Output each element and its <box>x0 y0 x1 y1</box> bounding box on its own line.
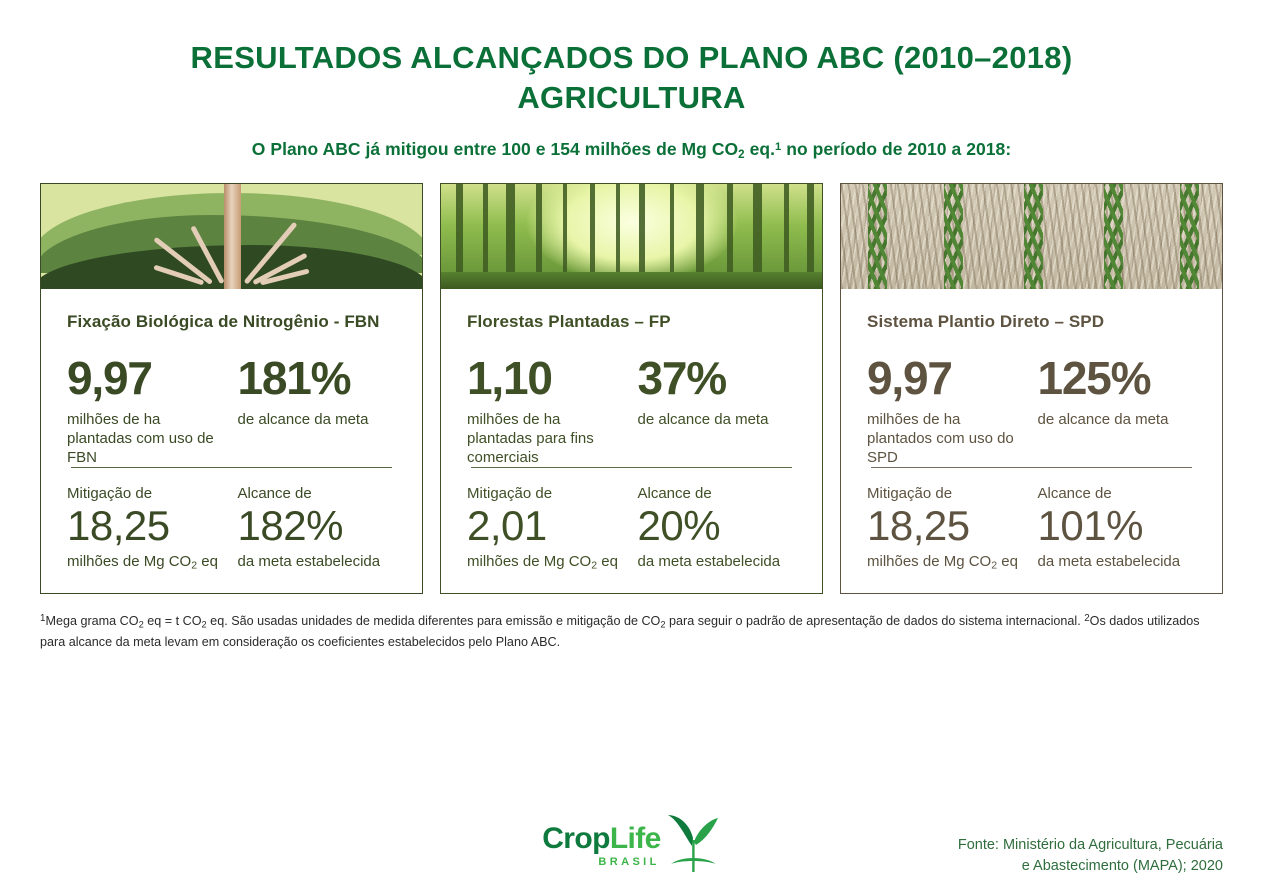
tree-trunk-icon <box>753 184 762 275</box>
card-spd-mitigation-stat: Mitigação de 18,25 milhões de Mg CO2 eq <box>867 485 1026 573</box>
source-line-2: e Abastecimento (MAPA); 2020 <box>958 856 1223 877</box>
tree-trunk-icon <box>670 184 674 275</box>
footnote-text-c: eq. São usadas unidades de medida difere… <box>207 614 661 628</box>
card-fp-reach-caption: de alcance da meta <box>638 410 797 429</box>
source-attribution: Fonte: Ministério da Agricultura, Pecuár… <box>958 835 1223 877</box>
crop-row-icon <box>1104 184 1123 289</box>
card-fbn-photo <box>41 184 422 289</box>
croplife-wordmark: CropLife <box>542 824 661 854</box>
card-fbn-mitigation-label: Mitigação de <box>67 485 226 503</box>
card-spd: Sistema Plantio Direto – SPD 9,97 milhõe… <box>840 183 1223 594</box>
footnote-text-a: Mega grama CO <box>45 614 138 628</box>
card-fbn-secondary-stats: Mitigação de 18,25 milhões de Mg CO2 eq … <box>67 485 396 573</box>
tree-trunk-icon <box>639 184 645 275</box>
crop-row-icon <box>868 184 887 289</box>
card-fp-secondary-stats: Mitigação de 2,01 milhões de Mg CO2 eq A… <box>467 485 796 573</box>
subtitle-text-1: O Plano ABC já mitigou entre 100 e 154 m… <box>252 139 738 159</box>
tree-trunk-icon <box>784 184 789 275</box>
card-fbn-reach-value: 181% <box>238 355 397 401</box>
tree-trunk-icon <box>616 184 620 275</box>
card-fp-photo <box>441 184 822 289</box>
card-fbn-goal-value: 182% <box>238 504 397 549</box>
forest-floor-icon <box>441 272 822 289</box>
card-spd-goal-label: Alcance de <box>1038 485 1197 503</box>
card-fp-area-stat: 1,10 milhões de ha plantadas para fins c… <box>467 355 626 468</box>
tree-trunk-icon <box>807 184 814 275</box>
tree-trunk-icon <box>563 184 567 275</box>
card-fp-area-value: 1,10 <box>467 355 626 401</box>
card-fbn-primary-stats: 9,97 milhões de ha plantadas com uso de … <box>67 355 396 468</box>
card-fp-area-caption: milhões de ha plantadas para fins comerc… <box>467 410 626 468</box>
tree-trunk-icon <box>727 184 733 275</box>
card-fbn-area-stat: 9,97 milhões de ha plantadas com uso de … <box>67 355 226 468</box>
source-line-1: Fonte: Ministério da Agricultura, Pecuár… <box>958 835 1223 856</box>
card-fbn-body: Fixação Biológica de Nitrogênio - FBN 9,… <box>41 289 422 593</box>
card-spd-reach-value: 125% <box>1038 355 1197 401</box>
tree-trunk-icon <box>456 184 463 275</box>
card-fbn-reach-stat: 181% de alcance da meta <box>238 355 397 468</box>
card-spd-mitigation-value: 18,25 <box>867 504 1026 549</box>
card-fbn-mitigation-caption: milhões de Mg CO2 eq <box>67 552 226 573</box>
card-fp-primary-stats: 1,10 milhões de ha plantadas para fins c… <box>467 355 796 468</box>
mitigation-caption-text-1: milhões de Mg CO <box>467 553 591 570</box>
card-fbn-goal-label: Alcance de <box>238 485 397 503</box>
crop-row-icon <box>1024 184 1043 289</box>
mitigation-caption-text-2: eq <box>597 553 618 570</box>
tree-trunk-icon <box>590 184 595 275</box>
crop-row-icon <box>944 184 963 289</box>
footnote-text-d: para seguir o padrão de apresentação de … <box>666 614 1085 628</box>
card-fbn-area-value: 9,97 <box>67 355 226 401</box>
card-fp-divider <box>471 467 792 468</box>
card-spd-mitigation-label: Mitigação de <box>867 485 1026 503</box>
mitigation-caption-text-1: milhões de Mg CO <box>867 553 991 570</box>
card-spd-area-value: 9,97 <box>867 355 1026 401</box>
title-line-2: AGRICULTURA <box>0 78 1263 118</box>
subtitle-text-2: eq. <box>745 139 775 159</box>
footnotes: 1Mega grama CO2 eq = t CO2 eq. São usada… <box>0 594 1263 653</box>
card-spd-photo <box>841 184 1222 289</box>
root-stem-icon <box>224 184 241 289</box>
card-fp-heading: Florestas Plantadas – FP <box>467 311 796 355</box>
card-fp-goal-caption: da meta estabelecida <box>638 552 797 571</box>
results-card-row: Fixação Biológica de Nitrogênio - FBN 9,… <box>0 183 1263 594</box>
card-spd-secondary-stats: Mitigação de 18,25 milhões de Mg CO2 eq … <box>867 485 1196 573</box>
card-spd-goal-value: 101% <box>1038 504 1197 549</box>
sprout-icon <box>665 812 721 879</box>
logo-brasil-label: BRASIL <box>598 857 659 868</box>
tree-trunk-icon <box>536 184 542 275</box>
card-fp-mitigation-value: 2,01 <box>467 504 626 549</box>
card-fp-goal-stat: Alcance de 20% da meta estabelecida <box>638 485 797 573</box>
card-fp: Florestas Plantadas – FP 1,10 milhões de… <box>440 183 823 594</box>
card-fbn-area-caption: milhões de ha plantadas com uso de FBN <box>67 410 226 468</box>
card-fp-reach-stat: 37% de alcance da meta <box>638 355 797 468</box>
mitigation-caption-text-2: eq <box>197 553 218 570</box>
card-fbn: Fixação Biológica de Nitrogênio - FBN 9,… <box>40 183 423 594</box>
card-fbn-mitigation-stat: Mitigação de 18,25 milhões de Mg CO2 eq <box>67 485 226 573</box>
card-spd-primary-stats: 9,97 milhões de ha plantados com uso do … <box>867 355 1196 468</box>
card-spd-area-caption: milhões de ha plantados com uso do SPD <box>867 410 1026 468</box>
card-fp-goal-label: Alcance de <box>638 485 797 503</box>
card-fbn-heading: Fixação Biológica de Nitrogênio - FBN <box>67 311 396 355</box>
subtitle-text-3: no período de 2010 a 2018: <box>781 139 1011 159</box>
card-spd-reach-stat: 125% de alcance da meta <box>1038 355 1197 468</box>
card-spd-area-stat: 9,97 milhões de ha plantados com uso do … <box>867 355 1026 468</box>
card-fbn-goal-stat: Alcance de 182% da meta estabelecida <box>238 485 397 573</box>
logo-word-life: Life <box>610 822 661 855</box>
tree-trunk-icon <box>506 184 515 275</box>
card-fp-reach-value: 37% <box>638 355 797 401</box>
card-spd-heading: Sistema Plantio Direto – SPD <box>867 311 1196 355</box>
card-spd-body: Sistema Plantio Direto – SPD 9,97 milhõe… <box>841 289 1222 593</box>
card-spd-mitigation-caption: milhões de Mg CO2 eq <box>867 552 1026 573</box>
logo-word-crop: Crop <box>542 822 610 855</box>
card-fp-goal-value: 20% <box>638 504 797 549</box>
card-fp-mitigation-stat: Mitigação de 2,01 milhões de Mg CO2 eq <box>467 485 626 573</box>
card-fp-mitigation-caption: milhões de Mg CO2 eq <box>467 552 626 573</box>
card-spd-reach-caption: de alcance da meta <box>1038 410 1197 429</box>
tree-trunk-icon <box>483 184 488 275</box>
footnote-text-b: eq = t CO <box>144 614 202 628</box>
title-line-1: RESULTADOS ALCANÇADOS DO PLANO ABC (2010… <box>191 40 1073 75</box>
subtitle: O Plano ABC já mitigou entre 100 e 154 m… <box>0 139 1263 161</box>
croplife-logo[interactable]: CropLife BRASIL <box>542 812 721 879</box>
sun-glow-icon <box>527 184 737 282</box>
card-spd-goal-stat: Alcance de 101% da meta estabelecida <box>1038 485 1197 573</box>
card-fp-mitigation-label: Mitigação de <box>467 485 626 503</box>
card-fbn-reach-caption: de alcance da meta <box>238 410 397 429</box>
crop-row-icon <box>1180 184 1199 289</box>
card-fbn-divider <box>71 467 392 468</box>
croplife-logo-text: CropLife BRASIL <box>542 824 661 868</box>
tree-trunk-icon <box>696 184 704 275</box>
card-spd-divider <box>871 467 1192 468</box>
mitigation-caption-text-1: milhões de Mg CO <box>67 553 191 570</box>
card-fp-body: Florestas Plantadas – FP 1,10 milhões de… <box>441 289 822 593</box>
page-title: RESULTADOS ALCANÇADOS DO PLANO ABC (2010… <box>0 38 1263 117</box>
card-fbn-mitigation-value: 18,25 <box>67 504 226 549</box>
mitigation-caption-text-2: eq <box>997 553 1018 570</box>
infographic-header: RESULTADOS ALCANÇADOS DO PLANO ABC (2010… <box>0 0 1263 162</box>
card-fbn-goal-caption: da meta estabelecida <box>238 552 397 571</box>
card-spd-goal-caption: da meta estabelecida <box>1038 552 1197 571</box>
